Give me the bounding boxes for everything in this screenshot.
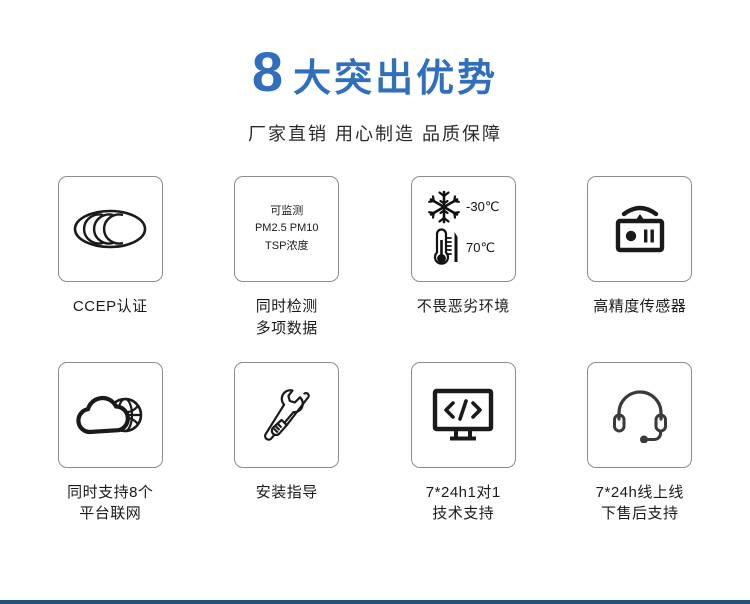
icon-card: 可监测 PM2.5 PM10 TSP浓度 bbox=[234, 176, 339, 282]
cold-temp-row: -30℃ bbox=[427, 190, 499, 224]
advantage-label: 同时检测 多项数据 bbox=[256, 296, 318, 340]
advantage-item-tech-support[interactable]: 7*24h1对1 技术支持 bbox=[375, 362, 552, 526]
advantage-label: 安装指导 bbox=[256, 482, 318, 504]
page-title: 8 大突出优势 bbox=[0, 44, 750, 100]
label-line: 同时支持8个 bbox=[67, 482, 153, 504]
label-line: 平台联网 bbox=[67, 503, 153, 525]
advantage-item-after-sales[interactable]: 7*24h线上线 下售后支持 bbox=[552, 362, 729, 526]
advantage-item-installation[interactable]: 安装指导 bbox=[199, 362, 376, 526]
ccc-certification-icon bbox=[73, 206, 147, 252]
advantage-item-multi-detect[interactable]: 可监测 PM2.5 PM10 TSP浓度 同时检测 多项数据 bbox=[199, 176, 376, 340]
title-text: 大突出优势 bbox=[293, 60, 498, 98]
monitor-code-icon bbox=[429, 386, 497, 444]
inner-text-line: 可监测 bbox=[255, 203, 319, 220]
advantage-label: CCEP认证 bbox=[73, 296, 148, 318]
label-line: 同时检测 bbox=[256, 296, 318, 318]
icon-card: -30℃ bbox=[411, 176, 516, 282]
thermometer-icon bbox=[427, 228, 461, 268]
label-line: 7*24h线上线 bbox=[596, 482, 684, 504]
card-inner-text: 可监测 PM2.5 PM10 TSP浓度 bbox=[255, 203, 319, 254]
advantage-item-ccep[interactable]: CCEP认证 bbox=[22, 176, 199, 340]
label-line: 高精度传感器 bbox=[593, 296, 686, 318]
icon-card bbox=[587, 176, 692, 282]
cold-temp-value: -30℃ bbox=[466, 199, 499, 215]
inner-text-line: PM2.5 PM10 bbox=[255, 220, 319, 237]
label-line: CCEP认证 bbox=[73, 296, 148, 318]
advantage-label: 同时支持8个 平台联网 bbox=[67, 482, 153, 526]
hot-temp-row: 70℃ bbox=[427, 228, 499, 268]
advantages-grid: CCEP认证 可监测 PM2.5 PM10 TSP浓度 同时检测 多项数据 bbox=[0, 176, 750, 525]
wrench-screwdriver-icon bbox=[256, 384, 318, 446]
advantage-item-temperature[interactable]: -30℃ bbox=[375, 176, 552, 340]
icon-card bbox=[234, 362, 339, 468]
label-line: 安装指导 bbox=[256, 482, 318, 504]
sensor-device-icon bbox=[607, 200, 673, 258]
advantage-label: 7*24h1对1 技术支持 bbox=[426, 482, 501, 526]
title-number: 8 bbox=[252, 44, 283, 100]
label-line: 下售后支持 bbox=[596, 503, 684, 525]
icon-card bbox=[411, 362, 516, 468]
icon-card bbox=[58, 362, 163, 468]
page-subtitle: 厂家直销 用心制造 品质保障 bbox=[0, 120, 750, 146]
hot-temp-value: 70℃ bbox=[466, 240, 495, 256]
advantage-label: 高精度传感器 bbox=[593, 296, 686, 318]
label-line: 技术支持 bbox=[426, 503, 501, 525]
cloud-globe-icon bbox=[72, 387, 148, 443]
label-line: 7*24h1对1 bbox=[426, 482, 501, 504]
advantage-label: 不畏恶劣环境 bbox=[417, 296, 510, 318]
snowflake-icon bbox=[427, 190, 461, 224]
advantage-label: 7*24h线上线 下售后支持 bbox=[596, 482, 684, 526]
icon-card bbox=[587, 362, 692, 468]
bottom-accent-bar bbox=[0, 600, 750, 604]
headset-icon bbox=[609, 387, 671, 443]
advantage-item-sensor[interactable]: 高精度传感器 bbox=[552, 176, 729, 340]
inner-text-line: TSP浓度 bbox=[255, 238, 319, 255]
temperature-range-icon: -30℃ bbox=[427, 190, 499, 268]
advantage-item-platform[interactable]: 同时支持8个 平台联网 bbox=[22, 362, 199, 526]
label-line: 不畏恶劣环境 bbox=[417, 296, 510, 318]
label-line: 多项数据 bbox=[256, 318, 318, 340]
page-header: 8 大突出优势 厂家直销 用心制造 品质保障 bbox=[0, 0, 750, 146]
icon-card bbox=[58, 176, 163, 282]
